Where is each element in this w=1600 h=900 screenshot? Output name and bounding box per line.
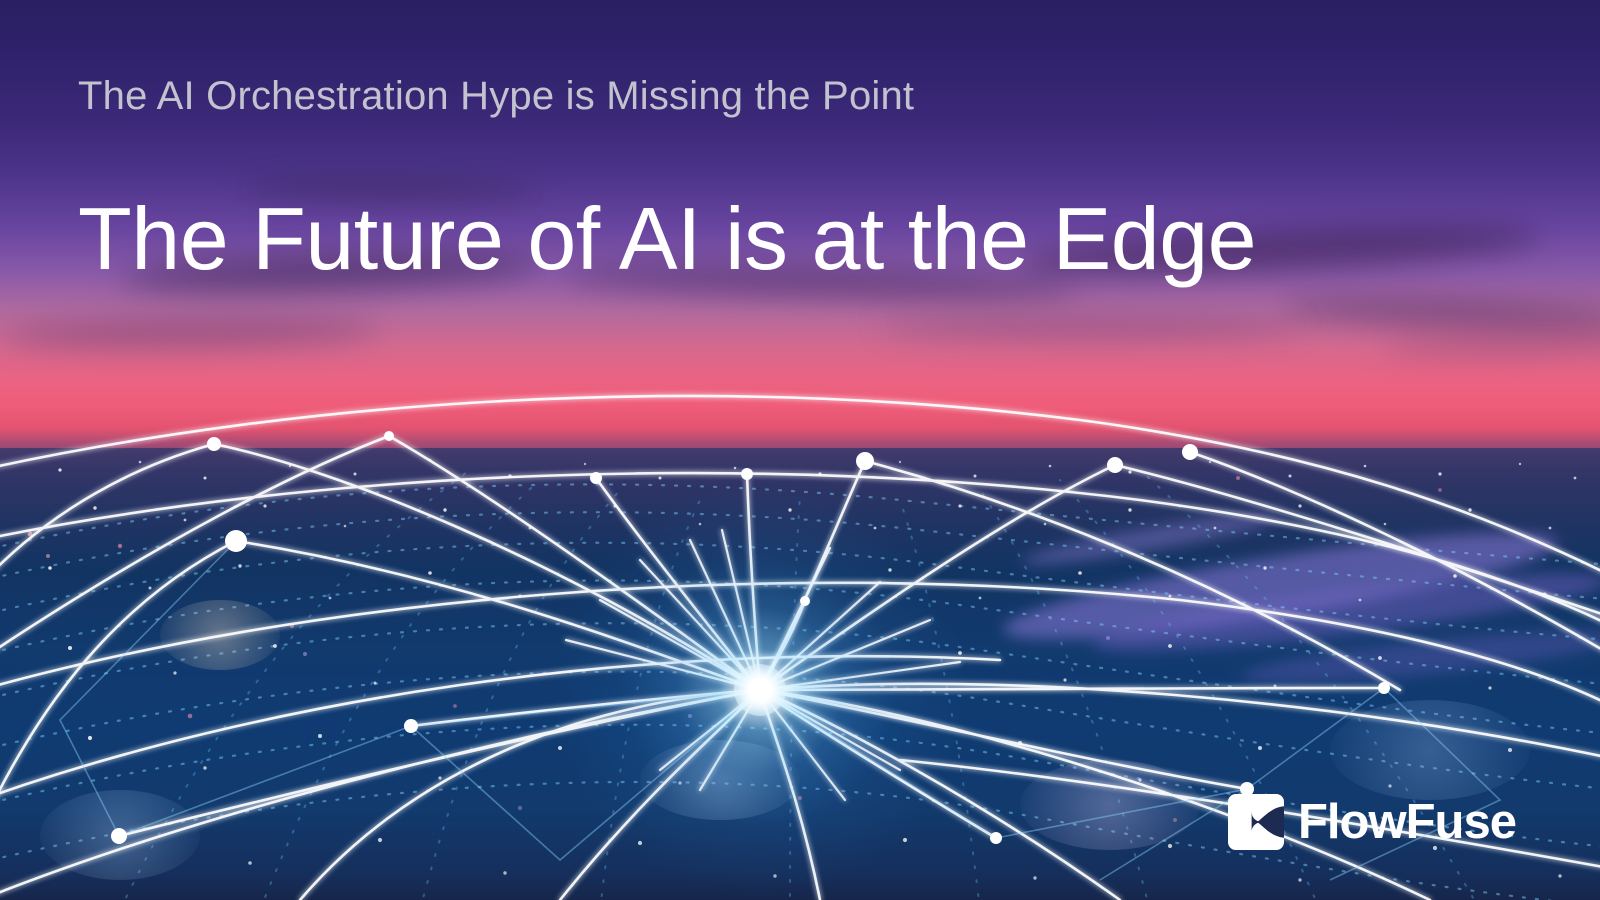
hero-kicker: The AI Orchestration Hype is Missing the… [78, 74, 914, 119]
flowfuse-logo-mark [1228, 794, 1284, 850]
hero-headline: The Future of AI is at the Edge [78, 193, 1256, 285]
flowfuse-wordmark: FlowFuse [1298, 798, 1516, 847]
hero-banner: The AI Orchestration Hype is Missing the… [0, 0, 1600, 900]
flowfuse-logo[interactable]: FlowFuse [1228, 794, 1516, 850]
